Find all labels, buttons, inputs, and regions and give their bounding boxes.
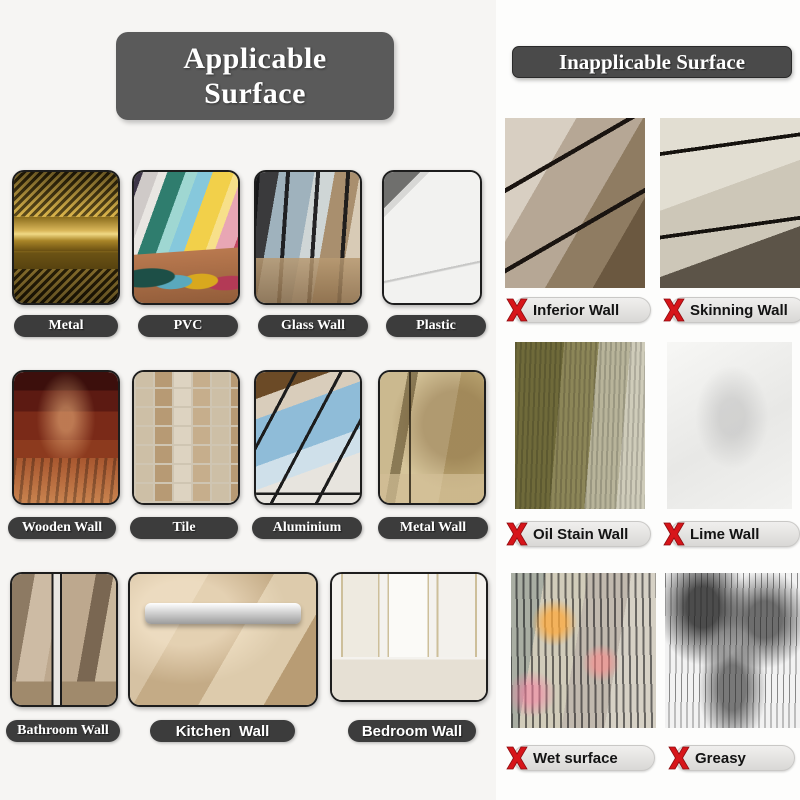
surface-label-text: Wooden Wall xyxy=(22,520,102,536)
surface-label-text: Bedroom Wall xyxy=(362,723,462,740)
applicable-title-line1: Applicable xyxy=(183,41,326,76)
bad-surface-tile-oil-stain-wall[interactable] xyxy=(515,342,645,509)
x-icon xyxy=(503,297,531,323)
surface-image-tile xyxy=(134,372,238,503)
inapplicable-title-text: Inapplicable Surface xyxy=(559,50,745,75)
surface-tile-plastic[interactable] xyxy=(382,170,482,305)
bad-surface-image-oil-stain-wall xyxy=(515,342,645,509)
bad-surface-label-text: Oil Stain Wall xyxy=(533,526,628,543)
bad-surface-image-inferior-wall xyxy=(505,118,645,288)
x-icon xyxy=(660,521,688,547)
surface-label-text: Glass Wall xyxy=(281,318,345,334)
surface-image-metal-wall xyxy=(380,372,484,503)
surface-tile-wooden-wall[interactable] xyxy=(12,370,120,505)
bad-surface-label-text: Skinning Wall xyxy=(690,302,788,319)
surface-tile-metal-wall[interactable] xyxy=(378,370,486,505)
surface-tile-kitchen-wall[interactable] xyxy=(128,572,318,707)
bad-surface-label-text: Inferior Wall xyxy=(533,302,619,319)
surface-image-aluminium xyxy=(256,372,360,503)
bad-surface-label-lime-wall: Lime Wall xyxy=(660,521,800,547)
bad-surface-label-skinning-wall: Skinning Wall xyxy=(660,297,800,323)
surface-label-plastic: Plastic xyxy=(386,315,486,337)
surface-image-plastic xyxy=(384,172,480,303)
x-icon xyxy=(503,745,531,771)
bad-surface-tile-wet-surface[interactable] xyxy=(511,573,656,728)
bad-surface-tile-greasy[interactable] xyxy=(665,573,800,728)
surface-label-aluminium: Aluminium xyxy=(252,517,362,539)
bad-surface-image-skinning-wall xyxy=(660,118,800,288)
surface-tile-bedroom-wall[interactable] xyxy=(330,572,488,702)
surface-image-glass-wall xyxy=(256,172,360,303)
bad-surface-label-wet-surface: Wet surface xyxy=(503,745,655,771)
surface-tile-bathroom-wall[interactable] xyxy=(10,572,118,707)
bad-surface-tile-skinning-wall[interactable] xyxy=(660,118,800,288)
surface-tile-tile[interactable] xyxy=(132,370,240,505)
bad-surface-tile-inferior-wall[interactable] xyxy=(505,118,645,288)
bad-surface-image-wet-surface xyxy=(511,573,656,728)
bad-surface-image-lime-wall xyxy=(667,342,792,509)
surface-image-bathroom-wall xyxy=(12,574,116,705)
surface-label-text: PVC xyxy=(174,318,203,334)
surface-image-bedroom-wall xyxy=(332,574,486,700)
bad-surface-tile-lime-wall[interactable] xyxy=(667,342,792,509)
bad-surface-label-text: Wet surface xyxy=(533,750,618,767)
x-icon xyxy=(660,297,688,323)
x-icon xyxy=(503,521,531,547)
infographic-root: Applicable Surface Metal PVC Glass Wall … xyxy=(0,0,800,800)
surface-label-text: Kitchen Wall xyxy=(176,723,270,740)
surface-label-metal-wall: Metal Wall xyxy=(378,517,488,539)
bad-surface-label-inferior-wall: Inferior Wall xyxy=(503,297,651,323)
surface-tile-pvc[interactable] xyxy=(132,170,240,305)
surface-label-bedroom-wall: Bedroom Wall xyxy=(348,720,476,742)
surface-label-text: Metal xyxy=(49,318,84,334)
applicable-panel: Applicable Surface Metal PVC Glass Wall … xyxy=(0,0,492,800)
surface-tile-glass-wall[interactable] xyxy=(254,170,362,305)
bad-surface-label-greasy: Greasy xyxy=(665,745,795,771)
surface-image-pvc xyxy=(134,172,238,303)
surface-label-glass-wall: Glass Wall xyxy=(258,315,368,337)
applicable-title-block: Applicable Surface xyxy=(116,32,394,120)
surface-image-wooden-wall xyxy=(14,372,118,503)
applicable-title-line2: Surface xyxy=(204,76,306,111)
bad-surface-label-text: Greasy xyxy=(695,750,746,767)
surface-label-text: Tile xyxy=(172,520,195,536)
surface-image-kitchen-wall xyxy=(130,574,316,705)
surface-label-metal: Metal xyxy=(14,315,118,337)
surface-label-tile: Tile xyxy=(130,517,238,539)
surface-image-metal xyxy=(14,172,118,303)
surface-label-kitchen-wall: Kitchen Wall xyxy=(150,720,295,742)
surface-label-bathroom-wall: Bathroom Wall xyxy=(6,720,120,742)
surface-label-text: Metal Wall xyxy=(400,520,466,536)
surface-label-text: Plastic xyxy=(416,318,456,334)
x-icon xyxy=(665,745,693,771)
surface-tile-metal[interactable] xyxy=(12,170,120,305)
surface-tile-aluminium[interactable] xyxy=(254,370,362,505)
surface-label-text: Aluminium xyxy=(273,520,341,536)
bad-surface-image-greasy xyxy=(665,573,800,728)
bedroom-art-figure xyxy=(346,584,374,644)
bad-surface-label-text: Lime Wall xyxy=(690,526,759,543)
surface-label-text: Bathroom Wall xyxy=(17,723,109,739)
surface-label-pvc: PVC xyxy=(138,315,238,337)
bad-surface-label-oil-stain-wall: Oil Stain Wall xyxy=(503,521,651,547)
surface-label-wooden-wall: Wooden Wall xyxy=(8,517,116,539)
inapplicable-title: Inapplicable Surface xyxy=(512,46,792,78)
